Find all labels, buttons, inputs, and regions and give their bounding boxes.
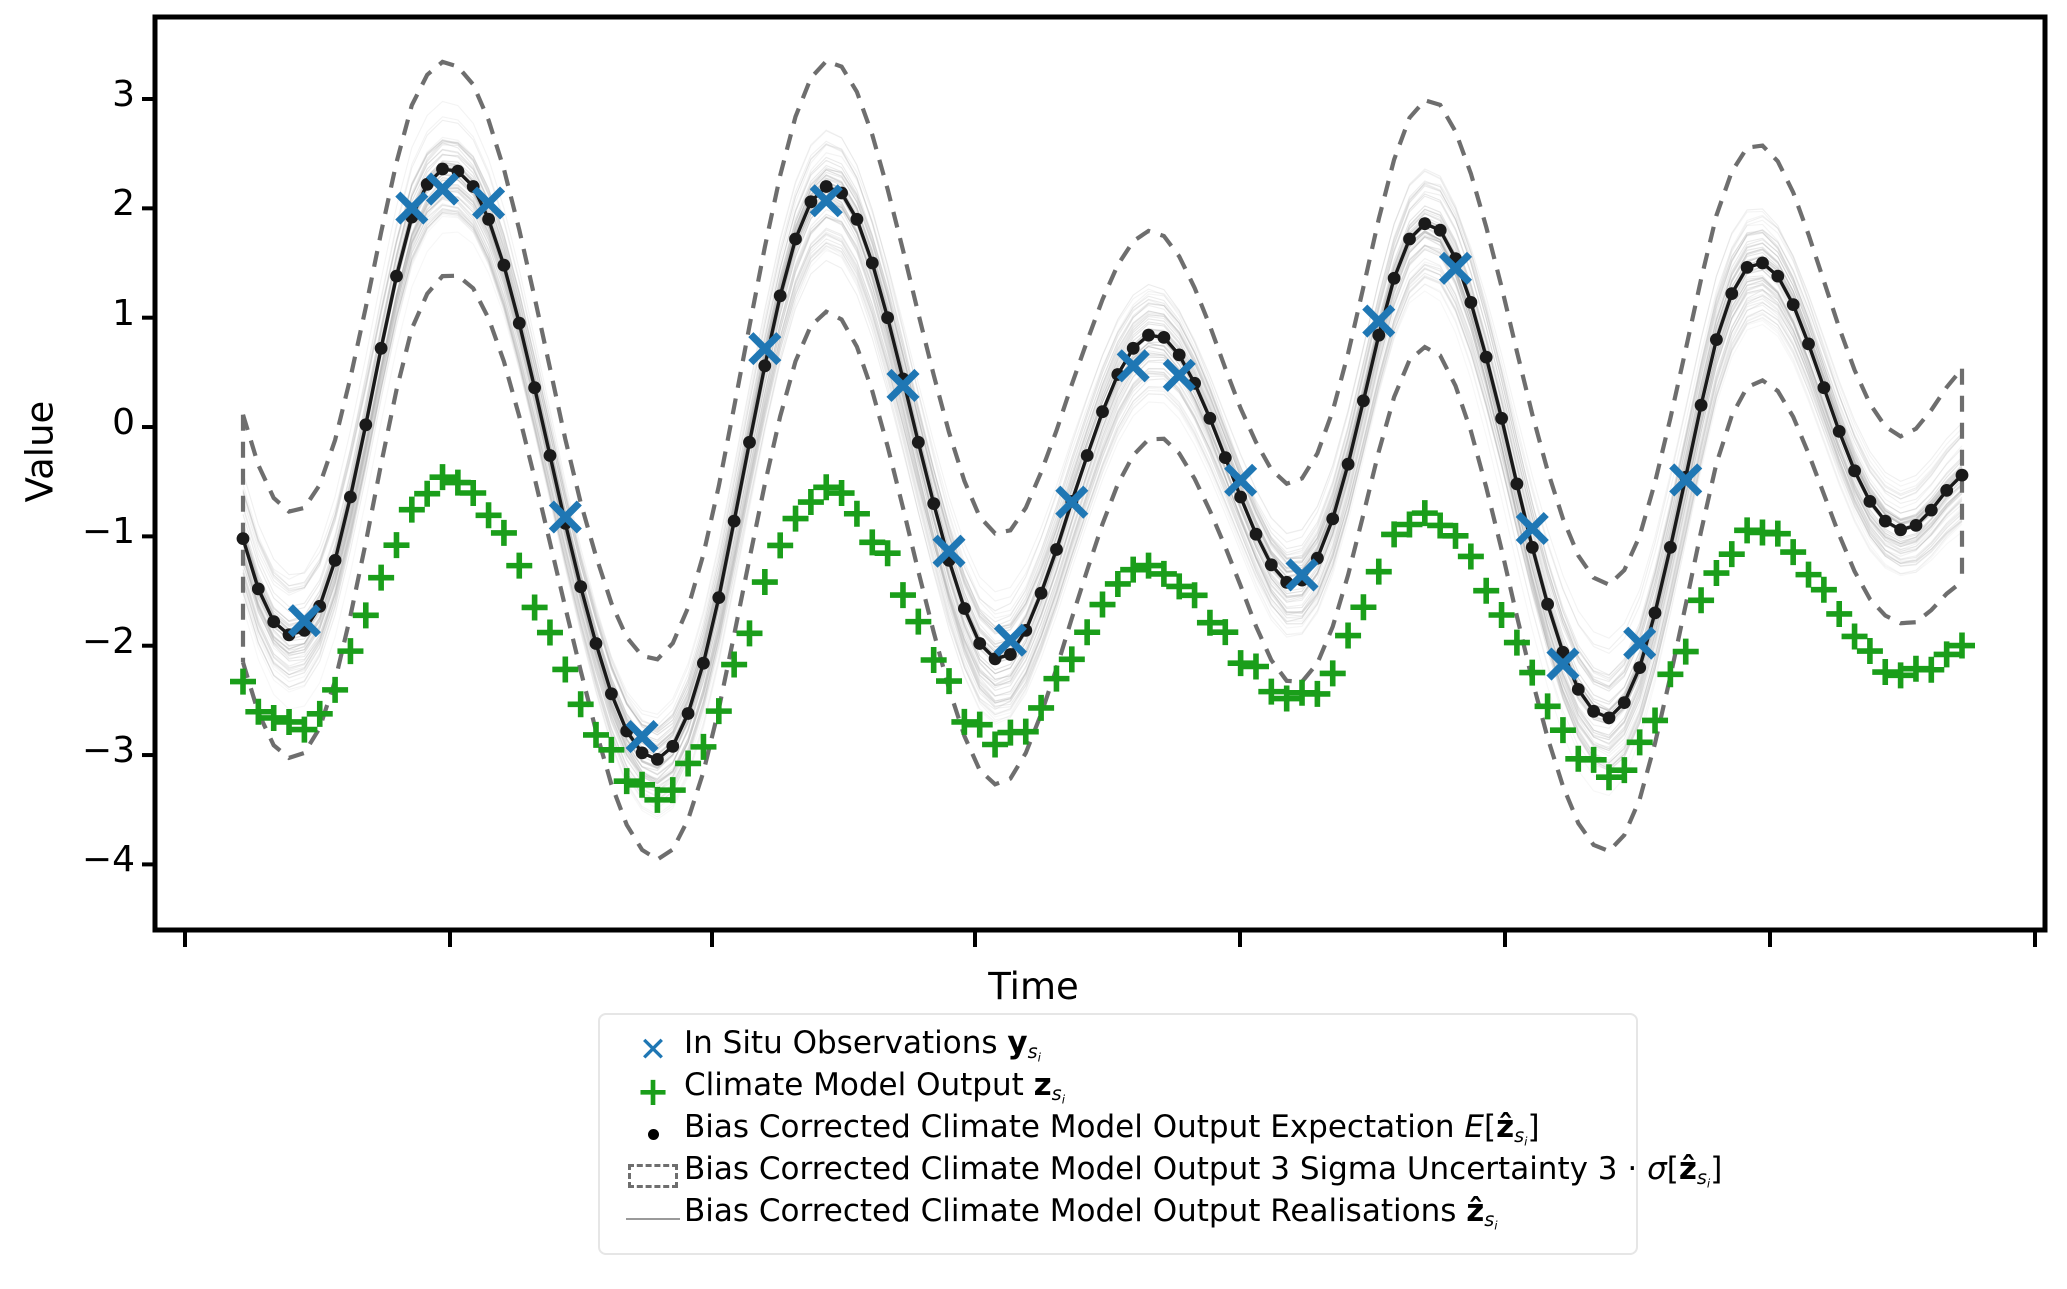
climate-model-plus-marker: [1765, 521, 1791, 547]
expectation-dot: [544, 449, 557, 462]
climate-model-markers: [230, 464, 1975, 813]
legend-item[interactable]: Bias Corrected Climate Model Output Real…: [622, 1197, 1616, 1239]
climate-model-plus-marker: [1780, 539, 1806, 565]
expectation-dot: [513, 317, 526, 330]
expectation-dot: [390, 270, 403, 283]
expectation-dot: [805, 195, 818, 208]
expectation-dot: [1572, 683, 1585, 696]
expectation-dot: [1050, 543, 1063, 556]
expectation-dot: [851, 213, 864, 226]
expectation-dot: [697, 657, 710, 670]
expectation-dot: [1833, 425, 1846, 438]
expectation-dot: [1265, 558, 1278, 571]
expectation-dot: [1081, 449, 1094, 462]
climate-model-plus-marker: [798, 489, 824, 515]
realisation-line: [243, 196, 1962, 783]
expectation-dot: [1234, 491, 1247, 504]
climate-model-plus-marker: [399, 497, 425, 523]
climate-model-plus-marker: [921, 647, 947, 673]
climate-model-plus-marker: [890, 582, 916, 608]
climate-model-plus-marker: [752, 569, 778, 595]
expectation-dot: [1633, 661, 1646, 674]
expectation-dot: [267, 615, 280, 628]
climate-model-plus-marker: [368, 565, 394, 591]
climate-model-plus-marker: [1872, 659, 1898, 685]
expectation-dot: [1096, 405, 1109, 418]
climate-model-plus-marker: [1013, 719, 1039, 745]
climate-model-plus-marker: [307, 701, 333, 727]
expectation-dot: [1879, 515, 1892, 528]
climate-model-plus-marker: [1703, 560, 1729, 586]
climate-model-plus-marker: [1719, 541, 1745, 567]
expectation-dot: [758, 359, 771, 372]
expectation-dot: [1388, 272, 1401, 285]
climate-model-plus-marker: [414, 481, 440, 507]
expectation-dot: [728, 515, 741, 528]
climate-model-plus-marker: [736, 620, 762, 646]
realisation-line: [243, 190, 1962, 766]
climate-model-plus-marker: [1857, 638, 1883, 664]
climate-model-plus-marker: [1304, 681, 1330, 707]
expectation-dot: [958, 602, 971, 615]
expectation-dot: [329, 554, 342, 567]
climate-model-plus-marker: [813, 474, 839, 500]
expectation-dot: [789, 233, 802, 246]
expectation-dot: [1787, 298, 1800, 311]
expectation-dot: [1495, 412, 1508, 425]
expectation-dot: [774, 289, 787, 302]
expectation-dot: [482, 213, 495, 226]
expectation-dot: [1204, 412, 1217, 425]
expectation-dot: [1158, 331, 1171, 344]
expectation-dot: [1940, 484, 1953, 497]
expectation-dot: [252, 583, 265, 596]
climate-model-plus-marker: [476, 502, 502, 528]
expectation-dot: [1418, 217, 1431, 230]
climate-model-plus-marker: [1657, 661, 1683, 687]
dot-marker-icon: [622, 1113, 684, 1155]
climate-model-plus-marker: [322, 677, 348, 703]
expectation-dot: [1603, 712, 1616, 725]
thin-line-icon: [622, 1197, 684, 1239]
expectation-dot: [1465, 296, 1478, 309]
expectation-dot: [1342, 458, 1355, 471]
expectation-dot: [605, 687, 618, 700]
expectation-dot: [1142, 329, 1155, 342]
expectation-dot: [1664, 541, 1677, 554]
climate-model-plus-marker: [1350, 594, 1376, 620]
expectation-dot: [1649, 607, 1662, 620]
expectation-dot: [1956, 469, 1969, 482]
expectation-dot: [1741, 261, 1754, 274]
y-tick-label: −3: [15, 730, 135, 771]
climate-model-plus-marker: [1826, 601, 1852, 627]
y-tick-label: 1: [15, 293, 135, 334]
expectation-dot: [666, 740, 679, 753]
expectation-dot: [820, 180, 833, 193]
expectation-dot: [1526, 541, 1539, 554]
expectation-dot: [1910, 519, 1923, 532]
climate-model-plus-marker: [1796, 562, 1822, 588]
climate-model-plus-marker: [491, 520, 517, 546]
realisation-line: [243, 198, 1962, 789]
climate-model-plus-marker: [783, 506, 809, 532]
climate-model-plus-marker: [1090, 592, 1116, 618]
expectation-dot: [1818, 381, 1831, 394]
y-tick-label: −2: [15, 621, 135, 662]
expectation-dot: [1541, 598, 1554, 611]
expectation-dot: [1587, 705, 1600, 718]
climate-model-plus-marker: [1228, 650, 1254, 676]
expectation-dot: [1004, 648, 1017, 661]
climate-model-plus-marker: [537, 620, 563, 646]
expectation-dot: [1173, 349, 1186, 362]
expectation-dot: [436, 163, 449, 176]
expectation-dot: [359, 418, 372, 431]
expectation-dot: [1480, 351, 1493, 364]
expectation-dot: [1618, 696, 1631, 709]
climate-model-plus-marker: [936, 668, 962, 694]
expectation-dot: [1771, 270, 1784, 283]
climate-model-plus-marker: [245, 699, 271, 725]
climate-model-plus-marker: [1673, 639, 1699, 665]
chart-legend: ✕In Situ Observations ysi+Climate Model …: [598, 1013, 1638, 1255]
expectation-dot: [927, 497, 940, 510]
expectation-dot: [712, 591, 725, 604]
y-axis-label-wrap: Value: [10, 330, 70, 570]
y-axis-label: Value: [19, 332, 62, 572]
climate-model-plus-marker: [829, 480, 855, 506]
expectation-dot: [1848, 464, 1861, 477]
expectation-dot: [636, 747, 649, 760]
dashed-box-icon: [622, 1155, 684, 1197]
expectation-dot: [1035, 587, 1048, 600]
expectation-dot: [1864, 495, 1877, 508]
expectation-dot: [528, 381, 541, 394]
climate-model-plus-marker: [552, 656, 578, 682]
expectation-dot: [651, 753, 664, 766]
climate-model-plus-marker: [1811, 577, 1837, 603]
expectation-dot: [743, 436, 756, 449]
expectation-dot: [912, 436, 925, 449]
climate-model-plus-marker: [568, 691, 594, 717]
expectation-dot: [590, 637, 603, 650]
climate-model-plus-marker: [353, 602, 379, 628]
climate-model-plus-marker: [383, 532, 409, 558]
expectation-dot: [1695, 399, 1708, 412]
expectation-dot: [1725, 287, 1738, 300]
expectation-dot: [1372, 329, 1385, 342]
x-marker-icon: ✕: [622, 1029, 684, 1071]
climate-model-plus-marker: [430, 464, 456, 490]
realisation-line: [243, 195, 1962, 784]
climate-model-plus-marker: [1120, 557, 1146, 583]
expectation-dot: [1357, 394, 1370, 407]
realisation-lines: [243, 102, 1962, 820]
climate-model-plus-marker: [982, 731, 1008, 757]
expectation-dot: [1894, 523, 1907, 536]
expectation-dot: [881, 311, 894, 324]
expectation-dot: [1250, 528, 1263, 541]
plus-marker-icon: +: [622, 1071, 684, 1113]
expectation-dot: [1127, 342, 1140, 355]
expectation-dot: [574, 580, 587, 593]
expectation-dot: [1710, 333, 1723, 346]
climate-model-plus-marker: [967, 712, 993, 738]
expectation-dot: [498, 259, 511, 272]
climate-model-plus-marker: [1043, 666, 1069, 692]
expectation-dot: [1802, 338, 1815, 351]
expectation-dot: [1511, 478, 1524, 491]
expectation-dot: [682, 707, 695, 720]
climate-model-plus-marker: [1243, 653, 1269, 679]
climate-model-plus-marker: [1335, 623, 1361, 649]
climate-model-plus-marker: [1473, 578, 1499, 604]
expectation-dot: [1326, 513, 1339, 526]
climate-model-plus-marker: [522, 594, 548, 620]
expectation-dot: [1403, 233, 1416, 246]
climate-model-plus-marker: [767, 532, 793, 558]
climate-model-plus-marker: [844, 501, 870, 527]
expectation-dot: [866, 257, 879, 270]
climate-model-plus-marker: [1918, 657, 1944, 683]
y-tick-label: 2: [15, 183, 135, 224]
expectation-dot: [237, 532, 250, 545]
expectation-dot: [1434, 224, 1447, 237]
expectation-dot: [375, 342, 388, 355]
climate-model-plus-marker: [1688, 587, 1714, 613]
realisation-line: [243, 197, 1962, 779]
climate-model-plus-marker: [1320, 660, 1346, 686]
climate-model-plus-marker: [1458, 543, 1484, 569]
climate-model-plus-marker: [506, 553, 532, 579]
expectation-dot: [344, 491, 357, 504]
expectation-dot: [973, 637, 986, 650]
y-tick-label: 3: [15, 74, 135, 115]
climate-model-plus-marker: [1074, 619, 1100, 645]
climate-model-plus-marker: [1028, 695, 1054, 721]
climate-model-plus-marker: [1842, 623, 1868, 649]
climate-model-plus-marker: [1489, 602, 1515, 628]
expectation-dot: [1219, 451, 1232, 464]
expectation-dot: [1925, 504, 1938, 517]
climate-model-plus-marker: [1366, 559, 1392, 585]
expectation-dot: [1756, 257, 1769, 270]
figure-canvas: 3210−1−2−3−4 Value Time ✕In Situ Observa…: [0, 0, 2067, 1289]
x-axis-label: Time: [0, 965, 2067, 1008]
climate-model-plus-marker: [1105, 571, 1131, 597]
legend-item-label: Bias Corrected Climate Model Output Real…: [684, 1190, 1498, 1247]
y-tick-label: −4: [15, 839, 135, 880]
